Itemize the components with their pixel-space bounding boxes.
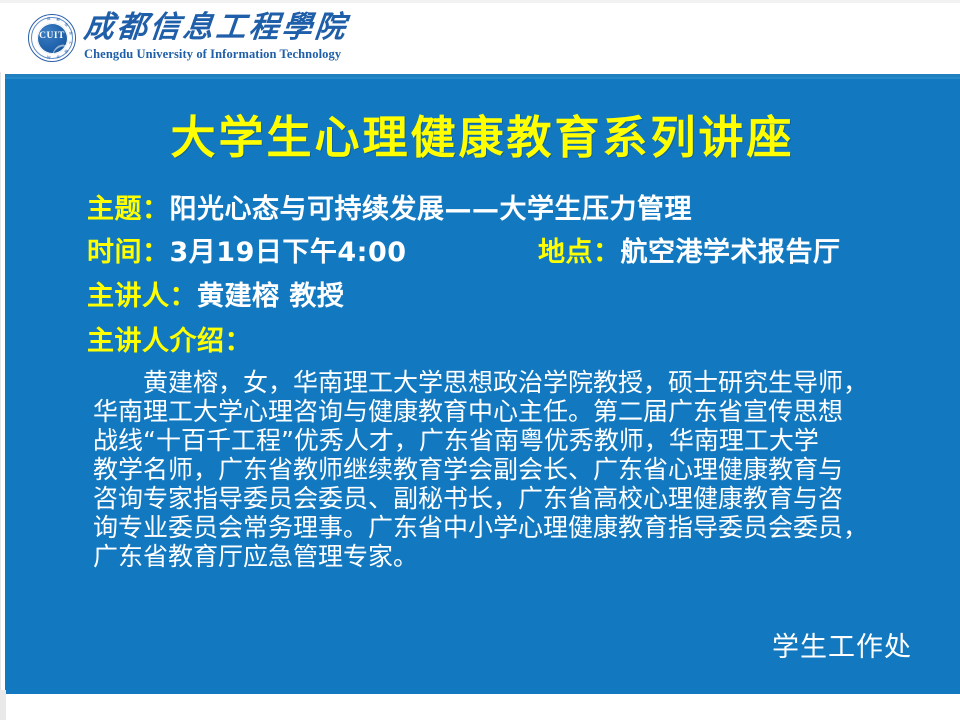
bio-line: 教学名师，广东省教师继续教育学会副会长、广东省心理健康教育与 bbox=[93, 455, 931, 484]
slide-header: 成都信息工程学院 CUIT 成都信息工程學院 Chengdu Universit… bbox=[0, 0, 960, 72]
cuit-seal-icon: 成都信息工程学院 CUIT bbox=[28, 14, 76, 62]
university-name-en: Chengdu University of Information Techno… bbox=[84, 47, 384, 62]
seal-acronym: CUIT bbox=[28, 31, 76, 41]
bio-line: 战线“十百千工程”优秀人才，广东省南粤优秀教师，华南理工大学 bbox=[93, 426, 931, 455]
slide-body-panel: 大学生心理健康教育系列讲座 主题：阳光心态与可持续发展——大学生压力管理 时间：… bbox=[5, 74, 960, 694]
subject-value: 阳光心态与可持续发展——大学生压力管理 bbox=[170, 194, 693, 225]
subject-label: 主题： bbox=[87, 194, 170, 225]
bio-line: 华南理工大学心理咨询与健康教育中心主任。第二届广东省宣传思想 bbox=[93, 397, 931, 426]
seal-ring-char: 院 bbox=[47, 54, 51, 58]
row-place: 地点：航空港学术报告厅 bbox=[538, 237, 841, 269]
university-name-cn: 成都信息工程學院 bbox=[82, 12, 385, 44]
university-wordmark: 成都信息工程學院 Chengdu University of Informati… bbox=[84, 12, 384, 62]
seal-ring-char: 都 bbox=[56, 18, 61, 23]
header-top-rule bbox=[0, 0, 960, 3]
row-speaker-intro-heading: 主讲人介绍： bbox=[87, 326, 252, 358]
issuing-office: 学生工作处 bbox=[772, 625, 912, 664]
row-speaker: 主讲人：黄建榕 教授 bbox=[87, 281, 344, 313]
bio-line: 询专业委员会常务理事。广东省中小学心理健康教育指导委员会委员， bbox=[93, 513, 931, 542]
seal-ring-char: 成 bbox=[47, 18, 51, 22]
speaker-bio: 黄建榕，女，华南理工大学思想政治学院教授，硕士研究生导师， 华南理工大学心理咨询… bbox=[93, 368, 931, 571]
slide-body-wrap: 大学生心理健康教育系列讲座 主题：阳光心态与可持续发展——大学生压力管理 时间：… bbox=[0, 72, 960, 696]
time-label: 时间： bbox=[87, 237, 170, 268]
row-time: 时间：3月19日下午4:00 bbox=[87, 237, 407, 269]
speaker-label: 主讲人： bbox=[87, 281, 197, 312]
seal-ring-char: 工 bbox=[68, 40, 72, 44]
speaker-intro-label: 主讲人介绍： bbox=[87, 326, 252, 357]
bio-line: 黄建榕，女，华南理工大学思想政治学院教授，硕士研究生导师， bbox=[93, 368, 931, 397]
page-title: 大学生心理健康教育系列讲座 bbox=[5, 113, 960, 163]
bio-line: 咨询专家指导委员会委员、副秘书长，广东省高校心理健康教育与咨 bbox=[93, 484, 931, 513]
bio-line: 广东省教育厅应急管理专家。 bbox=[93, 542, 931, 571]
time-value: 3月19日下午4:00 bbox=[170, 237, 407, 268]
speaker-value: 黄建榕 教授 bbox=[197, 281, 344, 312]
presentation-slide: 成都信息工程学院 CUIT 成都信息工程學院 Chengdu Universit… bbox=[0, 0, 960, 720]
slide-bottom-left-tick bbox=[0, 690, 6, 720]
row-subject: 主题：阳光心态与可持续发展——大学生压力管理 bbox=[87, 194, 692, 226]
slide-bottom-margin bbox=[0, 696, 960, 720]
place-label: 地点： bbox=[538, 237, 621, 268]
panel-top-rule bbox=[5, 77, 960, 79]
place-value: 航空港学术报告厅 bbox=[621, 237, 841, 268]
